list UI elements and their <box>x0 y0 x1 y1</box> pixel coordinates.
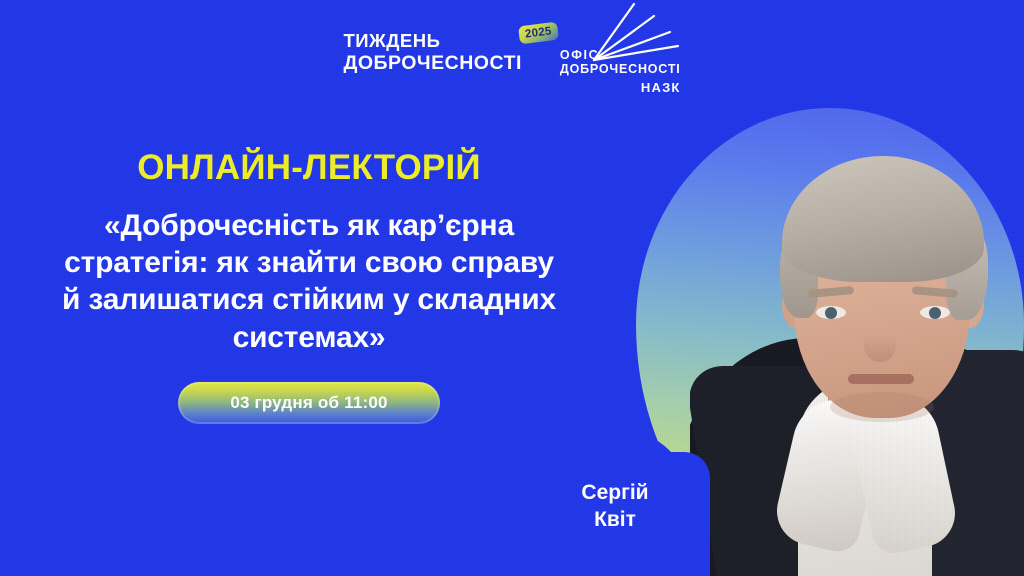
event-title-line2: стратегія: як знайти свою справу <box>26 244 592 281</box>
main-content: ОНЛАЙН-ЛЕКТОРІЙ «Доброчесність як кар’єр… <box>0 150 618 424</box>
eye-right <box>920 306 950 319</box>
speaker-first-name: Сергій <box>581 480 648 507</box>
year-badge-2025: 2025 <box>518 22 559 45</box>
event-title: «Доброчесність як кар’єрна стратегія: як… <box>0 207 618 356</box>
integrity-office-logo: ОФІС ДОБРОЧЕСНОСТІ НАЗК <box>556 26 681 95</box>
speaker-last-name: Квіт <box>594 507 636 534</box>
eye-left <box>816 306 846 319</box>
integrity-week-logo: ТИЖДЕНЬ ДОБРОЧЕСНОСТІ 2025 <box>343 26 521 73</box>
poster-canvas: Сергій Квіт ТИЖДЕНЬ ДОБРОЧЕСНОСТІ 2025 О… <box>0 0 1024 576</box>
hair-top <box>782 156 984 282</box>
integrity-week-logo-line1: ТИЖДЕНЬ <box>343 32 521 51</box>
header-logos: ТИЖДЕНЬ ДОБРОЧЕСНОСТІ 2025 ОФІС ДОБРОЧЕС… <box>0 26 1024 95</box>
nose <box>864 316 896 362</box>
mouth <box>848 374 914 384</box>
integrity-week-logo-line2: ДОБРОЧЕСНОСТІ <box>343 54 521 74</box>
rays-icon <box>590 2 710 66</box>
event-title-line1: «Доброчесність як кар’єрна <box>26 207 592 244</box>
chin-shadow <box>830 392 934 422</box>
event-title-line4: системах» <box>26 319 592 356</box>
speaker-portrait-photo <box>690 120 1024 576</box>
event-date-text: 03 грудня об 11:00 <box>230 393 387 413</box>
event-date-badge: 03 грудня об 11:00 <box>178 382 440 424</box>
speaker-nameplate: Сергій Квіт <box>520 452 710 576</box>
event-title-line3: й залишатися стійким у складних <box>26 281 592 318</box>
integrity-office-logo-line3: НАЗК <box>560 80 681 95</box>
event-kicker: ОНЛАЙН-ЛЕКТОРІЙ <box>0 150 618 185</box>
